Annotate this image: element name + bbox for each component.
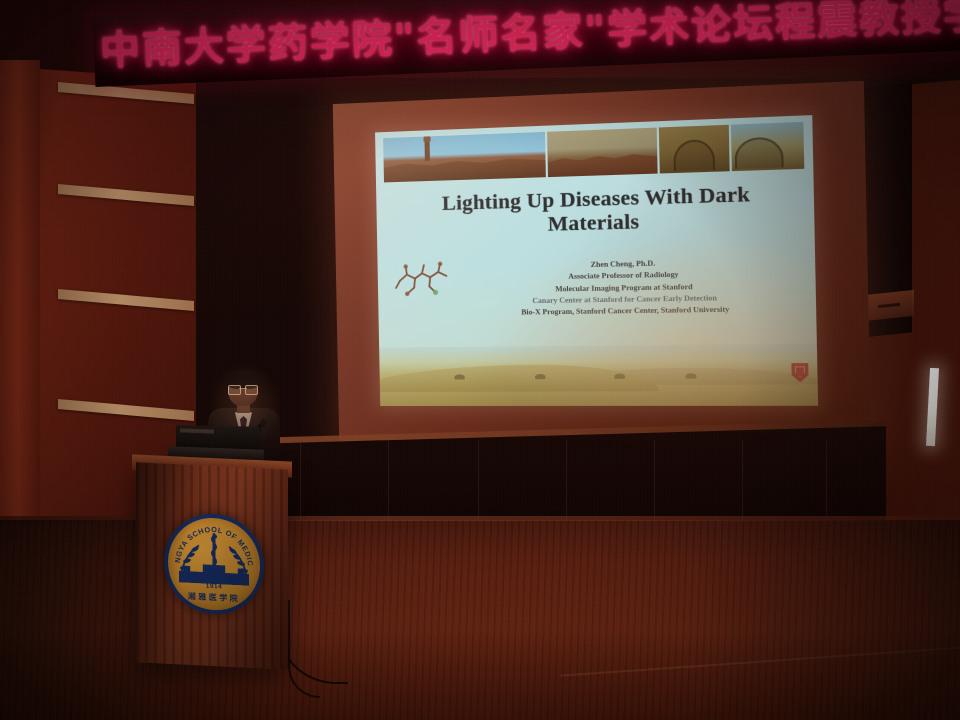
podium-shading xyxy=(136,462,288,669)
hoover-tower-campus-photo xyxy=(383,132,546,183)
slide-presenter-block: Zhen Cheng, Ph.D. Associate Professor of… xyxy=(456,254,798,318)
sandstone-arch-photo xyxy=(659,125,729,174)
wall-seam xyxy=(742,440,743,526)
wall-seam xyxy=(826,440,827,526)
microphone-head xyxy=(260,419,267,428)
arch-shape xyxy=(673,139,715,171)
glasses-left-lens xyxy=(228,385,241,395)
wall-seam xyxy=(300,440,301,526)
tree-shape xyxy=(614,374,625,379)
wall-seam xyxy=(388,440,389,526)
podium: XIANGYA SCHOOL OF MEDICINE xyxy=(136,462,288,669)
tree-shape xyxy=(535,374,546,379)
molecular-structure-diagram xyxy=(394,259,456,307)
archway-shape xyxy=(734,136,784,169)
presentation-slide: Lighting Up Diseases With Dark Materials xyxy=(375,115,818,406)
arcade-archway-photo xyxy=(731,122,805,171)
wall-seam xyxy=(478,440,479,526)
lecture-hall-photo: 中南大学药学院"名师名家"学术论坛程震教授学术报 xyxy=(0,0,960,720)
floor-cables xyxy=(288,600,320,698)
golden-foothills-landscape xyxy=(379,344,818,406)
slide-title: Lighting Up Diseases With Dark Materials xyxy=(402,182,794,241)
projection-screen: Lighting Up Diseases With Dark Materials xyxy=(333,81,872,447)
tree-shape xyxy=(685,373,696,378)
glasses-right-lens xyxy=(245,385,258,395)
led-banner: 中南大学药学院"名师名家"学术论坛程震教授学术报 xyxy=(92,0,960,87)
glasses-icon xyxy=(228,385,258,393)
wall-seam xyxy=(566,440,567,526)
tree-shape xyxy=(455,374,465,379)
rooftops-silhouette xyxy=(548,150,658,177)
campus-rooftops-photo xyxy=(547,128,658,178)
campus-silhouette xyxy=(384,154,547,183)
tower-shape xyxy=(425,140,430,160)
slide-photo-strip xyxy=(383,122,804,183)
wall-seam xyxy=(654,440,655,526)
